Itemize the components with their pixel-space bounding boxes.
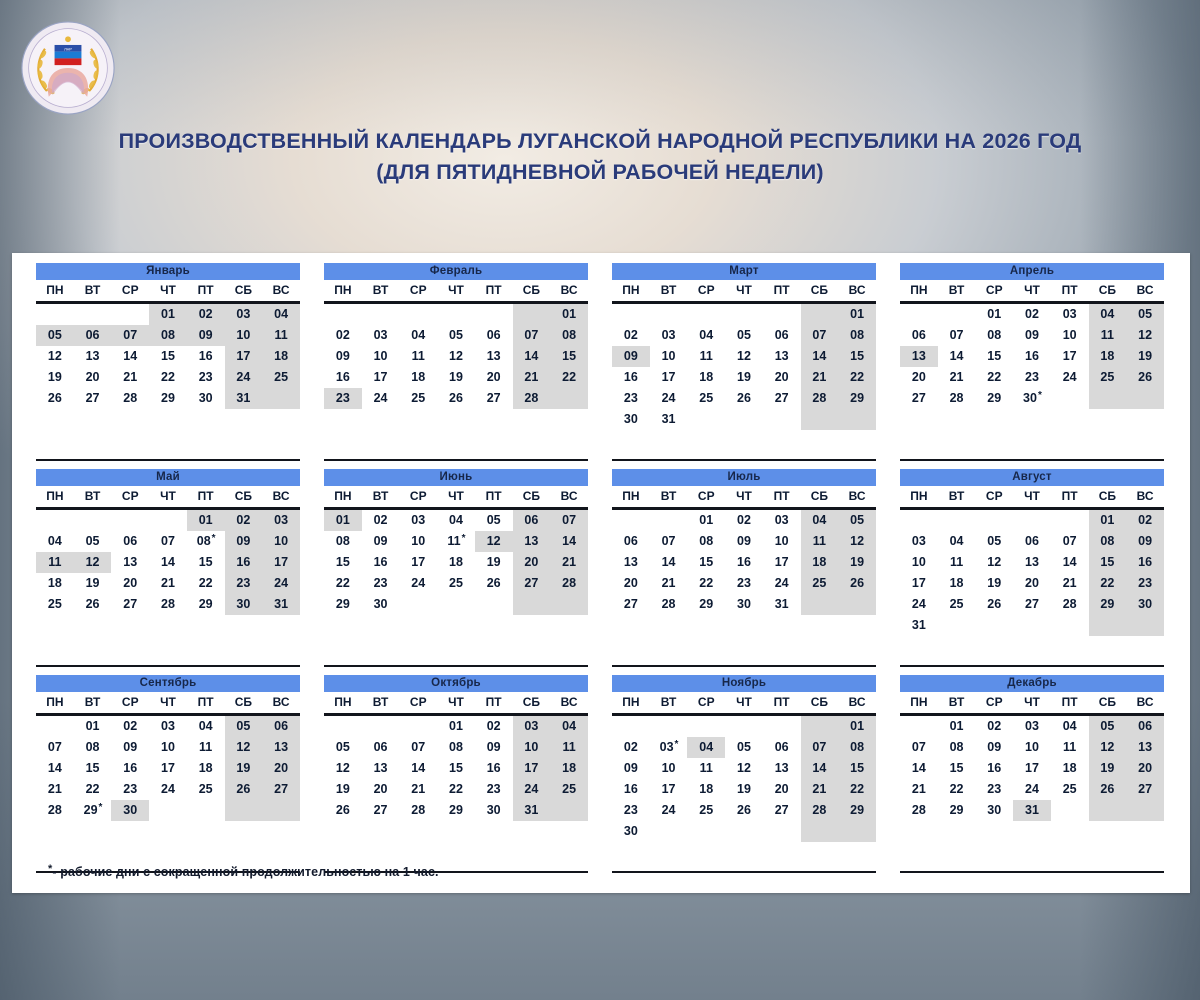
day-cell: 18: [801, 552, 839, 573]
day-cell: 19: [324, 779, 362, 800]
day-cell: 20: [513, 552, 551, 573]
day-cell: 01: [687, 510, 725, 531]
weekday-header-вс: ВС: [838, 486, 876, 506]
weekday-header-чт: ЧТ: [1013, 486, 1051, 506]
day-cell-empty: [725, 409, 763, 430]
weekday-header-сб: СБ: [225, 692, 263, 712]
day-cell: 29: [1089, 594, 1127, 615]
day-cell: 09: [324, 346, 362, 367]
weekday-header-ср: СР: [399, 486, 437, 506]
weekday-header-сб: СБ: [225, 280, 263, 300]
day-cell: 29: [838, 388, 876, 409]
day-cell: 12: [475, 531, 513, 552]
day-cell: 05: [725, 325, 763, 346]
day-cell: 04: [687, 737, 725, 758]
month-days-table: 0102030405060708091011121314151617181920…: [900, 716, 1164, 821]
month-bottom-rule: [36, 665, 300, 668]
day-cell: 23: [111, 779, 149, 800]
day-cell: 05: [1089, 716, 1127, 737]
day-cell: 19: [1126, 346, 1164, 367]
day-cell: 04: [262, 304, 300, 325]
day-cell-empty: [74, 304, 112, 325]
day-cell: 01: [1089, 510, 1127, 531]
day-cell: 22: [1089, 573, 1127, 594]
month-table: ПНВТСРЧТПТСБВС: [900, 692, 1164, 712]
day-cell: 15: [687, 552, 725, 573]
weekday-header-вс: ВС: [1126, 486, 1164, 506]
month-days-table: 0102030405060708091011121314151617181920…: [36, 510, 300, 615]
weekday-header-ср: СР: [111, 692, 149, 712]
day-cell-empty: [612, 304, 650, 325]
day-cell: 26: [725, 800, 763, 821]
month-title: Январь: [36, 263, 300, 280]
day-cell-empty: [36, 510, 74, 531]
day-cell: 10: [1013, 737, 1051, 758]
day-cell-empty: [650, 716, 688, 737]
day-cell-empty: [149, 800, 187, 821]
day-cell: 16: [187, 346, 225, 367]
day-cell: 21: [550, 552, 588, 573]
day-cell-empty: [1013, 510, 1051, 531]
day-cell: 27: [74, 388, 112, 409]
day-cell: 05: [838, 510, 876, 531]
day-cell: 24: [650, 800, 688, 821]
day-cell: 02: [475, 716, 513, 737]
day-cell: 14: [801, 758, 839, 779]
day-cell: 31: [900, 615, 938, 636]
day-cell: 02: [225, 510, 263, 531]
day-cell-empty: [111, 510, 149, 531]
weekday-header-пт: ПТ: [1051, 280, 1089, 300]
day-cell: 05: [36, 325, 74, 346]
week-row: 2728293031: [612, 594, 876, 615]
day-cell: 07: [149, 531, 187, 552]
day-cell: 17: [399, 552, 437, 573]
weekday-header-вс: ВС: [262, 486, 300, 506]
day-cell: 02: [111, 716, 149, 737]
day-cell: 13: [763, 758, 801, 779]
weekday-header-чт: ЧТ: [1013, 280, 1051, 300]
day-cell: 29: [975, 388, 1013, 409]
day-cell: 28: [900, 800, 938, 821]
weekday-header-пн: ПН: [36, 280, 74, 300]
week-row: 11121314151617: [36, 552, 300, 573]
day-cell: 25: [687, 388, 725, 409]
month-table: ПНВТСРЧТПТСБВС: [324, 280, 588, 300]
week-row: 02030405060708: [324, 325, 588, 346]
day-cell: 09: [225, 531, 263, 552]
day-cell: 23: [612, 388, 650, 409]
week-row: 27282930: [900, 388, 1164, 409]
day-cell: 22: [324, 573, 362, 594]
weekday-header-ср: СР: [975, 486, 1013, 506]
day-cell-empty: [36, 716, 74, 737]
weekday-header-пн: ПН: [900, 280, 938, 300]
day-cell: 31: [1013, 800, 1051, 821]
day-cell-empty: [612, 510, 650, 531]
day-cell: 05: [437, 325, 475, 346]
week-row: 09101112131415: [612, 346, 876, 367]
week-row: 16171819202122: [612, 779, 876, 800]
day-cell: 01: [437, 716, 475, 737]
month-title: Декабрь: [900, 675, 1164, 692]
day-cell: 24: [399, 573, 437, 594]
day-cell: 02: [612, 325, 650, 346]
month-table: ПНВТСРЧТПТСБВС: [612, 280, 876, 300]
day-cell-empty: [437, 304, 475, 325]
week-row: 3031: [612, 409, 876, 430]
day-cell: 16: [225, 552, 263, 573]
day-cell-empty: [801, 716, 839, 737]
weekday-header-пт: ПТ: [187, 486, 225, 506]
day-cell: 27: [1013, 594, 1051, 615]
day-cell: 21: [149, 573, 187, 594]
day-cell: 23: [187, 367, 225, 388]
weekday-header-вт: ВТ: [938, 280, 976, 300]
month-block: СентябрьПНВТСРЧТПТСБВС 01020304050607080…: [36, 675, 300, 881]
day-cell: 28: [801, 388, 839, 409]
day-cell: 08: [687, 531, 725, 552]
day-cell: 26: [838, 573, 876, 594]
day-cell: 14: [513, 346, 551, 367]
day-cell: 16: [975, 758, 1013, 779]
weekday-header-сб: СБ: [513, 280, 551, 300]
month-title: Июль: [612, 469, 876, 486]
day-cell: 16: [475, 758, 513, 779]
weekday-header-чт: ЧТ: [1013, 692, 1051, 712]
day-cell-empty: [900, 510, 938, 531]
day-cell: 25: [36, 594, 74, 615]
day-cell-empty: [1126, 388, 1164, 409]
day-cell-empty: [801, 304, 839, 325]
day-cell: 15: [1089, 552, 1127, 573]
week-row: 262728293031: [324, 800, 588, 821]
day-cell: 15: [838, 346, 876, 367]
day-cell: 09: [187, 325, 225, 346]
weekday-header-сб: СБ: [1089, 692, 1127, 712]
weekday-header-вт: ВТ: [650, 280, 688, 300]
day-cell: 19: [437, 367, 475, 388]
day-cell: 20: [111, 573, 149, 594]
day-cell: 26: [1089, 779, 1127, 800]
day-cell: 31: [513, 800, 551, 821]
day-cell: 25: [437, 573, 475, 594]
day-cell: 25: [262, 367, 300, 388]
day-cell: 21: [36, 779, 74, 800]
day-cell: 08: [938, 737, 976, 758]
day-cell: 10: [513, 737, 551, 758]
month-title: Август: [900, 469, 1164, 486]
week-row: 07080910111213: [900, 737, 1164, 758]
day-cell: 03: [262, 510, 300, 531]
day-cell: 07: [111, 325, 149, 346]
day-cell: 14: [36, 758, 74, 779]
day-cell-empty: [1013, 615, 1051, 636]
weekday-header-сб: СБ: [801, 280, 839, 300]
weekday-header-ср: СР: [399, 692, 437, 712]
day-cell: 22: [437, 779, 475, 800]
week-row: 02030405060708: [612, 325, 876, 346]
weekday-header-вт: ВТ: [74, 486, 112, 506]
weekday-header-пн: ПН: [36, 486, 74, 506]
day-cell: 22: [149, 367, 187, 388]
day-cell-empty: [262, 388, 300, 409]
day-cell: 13: [74, 346, 112, 367]
day-cell-empty: [687, 409, 725, 430]
day-cell: 29: [838, 800, 876, 821]
day-cell: 10: [149, 737, 187, 758]
day-cell: 20: [362, 779, 400, 800]
day-cell: 14: [938, 346, 976, 367]
day-cell: 21: [900, 779, 938, 800]
day-cell: 20: [475, 367, 513, 388]
day-cell: 29: [187, 594, 225, 615]
day-cell-empty: [550, 800, 588, 821]
week-row: 28293031: [900, 800, 1164, 821]
day-cell: 09: [362, 531, 400, 552]
day-cell: 24: [262, 573, 300, 594]
day-cell-empty: [725, 304, 763, 325]
week-row: 05060708091011: [324, 737, 588, 758]
day-cell: 06: [763, 325, 801, 346]
title-line-1: ПРОИЗВОДСТВЕННЫЙ КАЛЕНДАРЬ ЛУГАНСКОЙ НАР…: [119, 129, 1082, 153]
day-cell-empty: [687, 304, 725, 325]
day-cell: 01: [324, 510, 362, 531]
day-cell: 15: [324, 552, 362, 573]
day-cell: 06: [262, 716, 300, 737]
week-row: 01020304050607: [324, 510, 588, 531]
day-cell-empty: [1089, 800, 1127, 821]
day-cell: 01: [838, 716, 876, 737]
day-cell: 17: [362, 367, 400, 388]
month-bottom-rule: [900, 871, 1164, 874]
month-block: АвгустПНВТСРЧТПТСБВС 0102030405060708091…: [900, 469, 1164, 675]
month-days-table: 0102030405060708091011121314151617181920…: [324, 510, 588, 615]
day-cell-empty: [437, 594, 475, 615]
day-cell-empty: [725, 716, 763, 737]
weekday-header-вт: ВТ: [362, 692, 400, 712]
day-cell: 17: [650, 367, 688, 388]
day-cell: 08: [1089, 531, 1127, 552]
week-row: 23242526272829: [612, 388, 876, 409]
month-title: Сентябрь: [36, 675, 300, 692]
day-cell-empty: [650, 821, 688, 842]
day-cell: 13: [900, 346, 938, 367]
weekday-header-чт: ЧТ: [725, 280, 763, 300]
day-cell-empty: [900, 716, 938, 737]
weekday-header-вс: ВС: [550, 486, 588, 506]
day-cell: 30: [612, 409, 650, 430]
day-cell: 11: [36, 552, 74, 573]
day-cell: 21: [111, 367, 149, 388]
day-cell: 01: [550, 304, 588, 325]
day-cell: 04: [36, 531, 74, 552]
day-cell: 25: [801, 573, 839, 594]
day-cell-empty: [1051, 510, 1089, 531]
day-cell: 10: [650, 346, 688, 367]
day-cell: 17: [149, 758, 187, 779]
weekday-header-вс: ВС: [838, 692, 876, 712]
week-row: 232425262728: [324, 388, 588, 409]
day-cell: 14: [399, 758, 437, 779]
day-cell: 18: [1051, 758, 1089, 779]
day-cell: 21: [650, 573, 688, 594]
weekday-header-чт: ЧТ: [437, 280, 475, 300]
day-cell: 06: [763, 737, 801, 758]
week-row: 282930: [36, 800, 300, 821]
week-row: 262728293031: [36, 388, 300, 409]
day-cell-empty: [187, 800, 225, 821]
weekday-header-сб: СБ: [801, 486, 839, 506]
week-row: 23242526272829: [612, 800, 876, 821]
day-cell: 19: [225, 758, 263, 779]
week-row: 10111213141516: [900, 552, 1164, 573]
months-grid: ЯнварьПНВТСРЧТПТСБВС 0102030405060708091…: [36, 263, 1166, 881]
day-cell: 12: [838, 531, 876, 552]
day-cell: 23: [975, 779, 1013, 800]
day-cell: 18: [437, 552, 475, 573]
day-cell: 18: [550, 758, 588, 779]
weekday-header-ср: СР: [111, 486, 149, 506]
month-table: ПНВТСРЧТПТСБВС: [612, 486, 876, 506]
day-cell: 08: [74, 737, 112, 758]
day-cell: 19: [475, 552, 513, 573]
day-cell: 28: [650, 594, 688, 615]
day-cell-empty: [687, 716, 725, 737]
day-cell: 09: [612, 758, 650, 779]
day-cell: 09: [1013, 325, 1051, 346]
day-cell: 15: [975, 346, 1013, 367]
day-cell: 05: [74, 531, 112, 552]
day-cell: 04: [801, 510, 839, 531]
week-row: 24252627282930: [900, 594, 1164, 615]
day-cell: 11: [262, 325, 300, 346]
week-row: 15161718192021: [324, 552, 588, 573]
week-row: 05060708091011: [36, 325, 300, 346]
weekday-header-сб: СБ: [225, 486, 263, 506]
day-cell: 16: [612, 367, 650, 388]
day-cell: 22: [838, 779, 876, 800]
weekday-header-ср: СР: [111, 280, 149, 300]
page-title: ПРОИЗВОДСТВЕННЫЙ КАЛЕНДАРЬ ЛУГАНСКОЙ НАР…: [0, 126, 1200, 188]
weekday-header-вс: ВС: [1126, 280, 1164, 300]
month-title: Июнь: [324, 469, 588, 486]
day-cell: 21: [801, 367, 839, 388]
weekday-header-чт: ЧТ: [725, 486, 763, 506]
day-cell: 12: [725, 346, 763, 367]
week-row: 30: [612, 821, 876, 842]
day-cell: 11: [550, 737, 588, 758]
month-block: ЯнварьПНВТСРЧТПТСБВС 0102030405060708091…: [36, 263, 300, 469]
day-cell-empty: [801, 594, 839, 615]
day-cell: 15: [938, 758, 976, 779]
day-cell: 06: [1013, 531, 1051, 552]
day-cell: 04: [687, 325, 725, 346]
day-cell: 02: [324, 325, 362, 346]
day-cell: 11: [938, 552, 976, 573]
month-table: ПНВТСРЧТПТСБВС: [36, 280, 300, 300]
week-row: 01: [612, 716, 876, 737]
day-cell: 26: [324, 800, 362, 821]
month-days-table: 0102030405060708091011121314151617181920…: [612, 716, 876, 842]
weekday-header-вт: ВТ: [650, 692, 688, 712]
day-cell: 10: [225, 325, 263, 346]
day-cell: 13: [1013, 552, 1051, 573]
week-row: 08091011121314: [324, 531, 588, 552]
day-cell: 19: [838, 552, 876, 573]
day-cell: 24: [900, 594, 938, 615]
day-cell: 28: [399, 800, 437, 821]
day-cell: 18: [36, 573, 74, 594]
day-cell: 28: [1051, 594, 1089, 615]
day-cell: 07: [513, 325, 551, 346]
day-cell: 13: [111, 552, 149, 573]
day-cell: 25: [938, 594, 976, 615]
day-cell: 06: [362, 737, 400, 758]
day-cell: 09: [111, 737, 149, 758]
day-cell: 29: [938, 800, 976, 821]
day-cell: 21: [938, 367, 976, 388]
day-cell: 20: [74, 367, 112, 388]
day-cell: 07: [900, 737, 938, 758]
day-cell: 20: [612, 573, 650, 594]
day-cell: 27: [900, 388, 938, 409]
weekday-header-чт: ЧТ: [725, 692, 763, 712]
day-cell: 25: [1089, 367, 1127, 388]
day-cell: 27: [612, 594, 650, 615]
weekday-header-ср: СР: [399, 280, 437, 300]
month-block: МартПНВТСРЧТПТСБВС 010203040506070809101…: [612, 263, 876, 469]
day-cell-empty: [225, 800, 263, 821]
week-row: 02030405060708: [612, 737, 876, 758]
day-cell: 21: [1051, 573, 1089, 594]
day-cell: 26: [437, 388, 475, 409]
day-cell: 31: [225, 388, 263, 409]
month-days-table: 0102030405060708091011121314151617181920…: [612, 510, 876, 615]
day-cell: 10: [262, 531, 300, 552]
weekday-header-вс: ВС: [262, 280, 300, 300]
weekday-header-сб: СБ: [1089, 486, 1127, 506]
day-cell: 09: [975, 737, 1013, 758]
month-days-table: 0102030405060708091011121314151617181920…: [36, 304, 300, 409]
month-title: Май: [36, 469, 300, 486]
month-bottom-rule: [36, 459, 300, 462]
day-cell: 10: [399, 531, 437, 552]
day-cell: 03: [1051, 304, 1089, 325]
week-row: 010203040506: [900, 716, 1164, 737]
weekday-header-пт: ПТ: [763, 692, 801, 712]
month-block: ИюньПНВТСРЧТПТСБВС0102030405060708091011…: [324, 469, 588, 675]
day-cell: 08: [324, 531, 362, 552]
week-row: 12131415161718: [36, 346, 300, 367]
day-cell: 28: [938, 388, 976, 409]
day-cell-empty: [650, 510, 688, 531]
weekday-header-чт: ЧТ: [149, 280, 187, 300]
month-days-table: 0102030405060708091011121314151617181920…: [900, 510, 1164, 636]
day-cell: 24: [513, 779, 551, 800]
month-table: ПНВТСРЧТПТСБВС: [324, 486, 588, 506]
day-cell: 06: [513, 510, 551, 531]
weekday-header-ср: СР: [687, 280, 725, 300]
day-cell: 14: [111, 346, 149, 367]
day-cell: 29: [149, 388, 187, 409]
month-block: ОктябрьПНВТСРЧТПТСБВС 010203040506070809…: [324, 675, 588, 881]
day-cell: 15: [437, 758, 475, 779]
day-cell: 04: [1089, 304, 1127, 325]
week-row: 17181920212223: [900, 573, 1164, 594]
week-row: 0102: [900, 510, 1164, 531]
day-cell: 30: [111, 800, 149, 821]
